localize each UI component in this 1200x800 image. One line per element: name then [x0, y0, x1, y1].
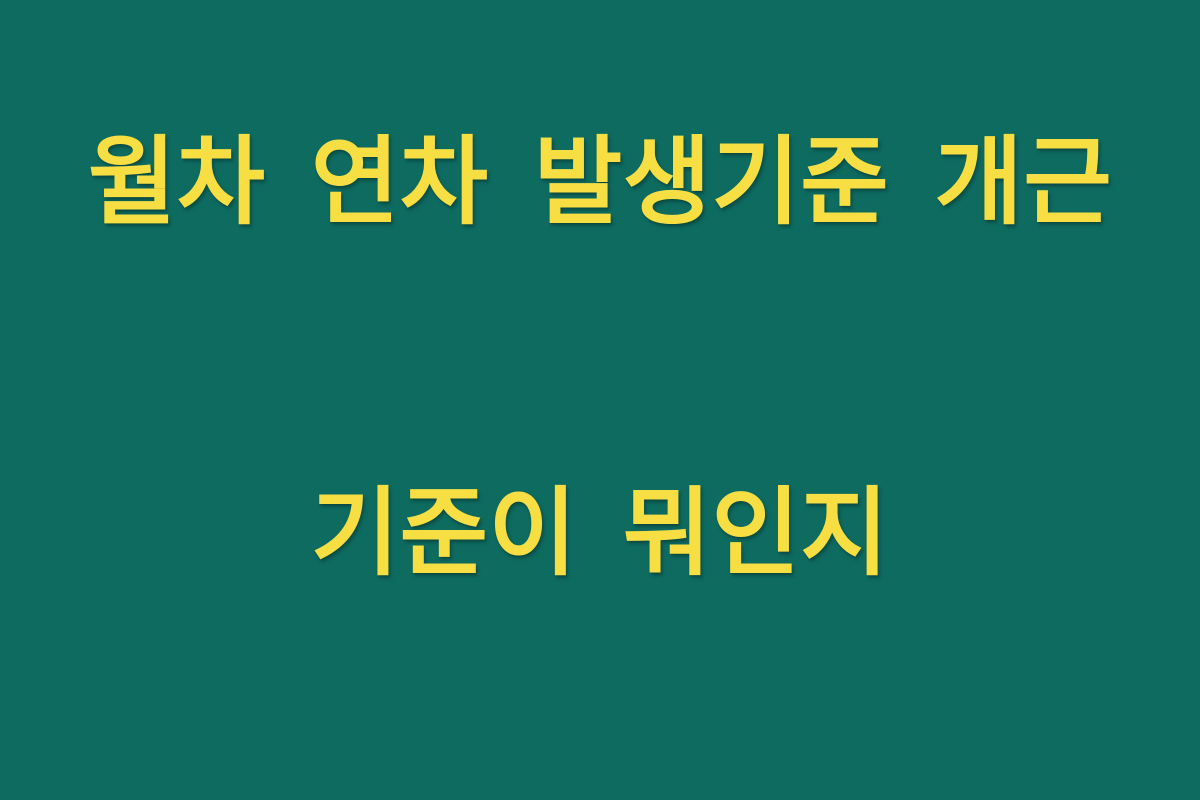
headline-block: 월차 연차 발생기준 개근 기준이 뭐인지 — [70, 0, 1130, 800]
headline-line-1: 월차 연차 발생기준 개근 — [70, 124, 1130, 241]
headline-line-2: 기준이 뭐인지 — [70, 475, 1130, 592]
banner-canvas: 월차 연차 발생기준 개근 기준이 뭐인지 — [0, 0, 1200, 800]
